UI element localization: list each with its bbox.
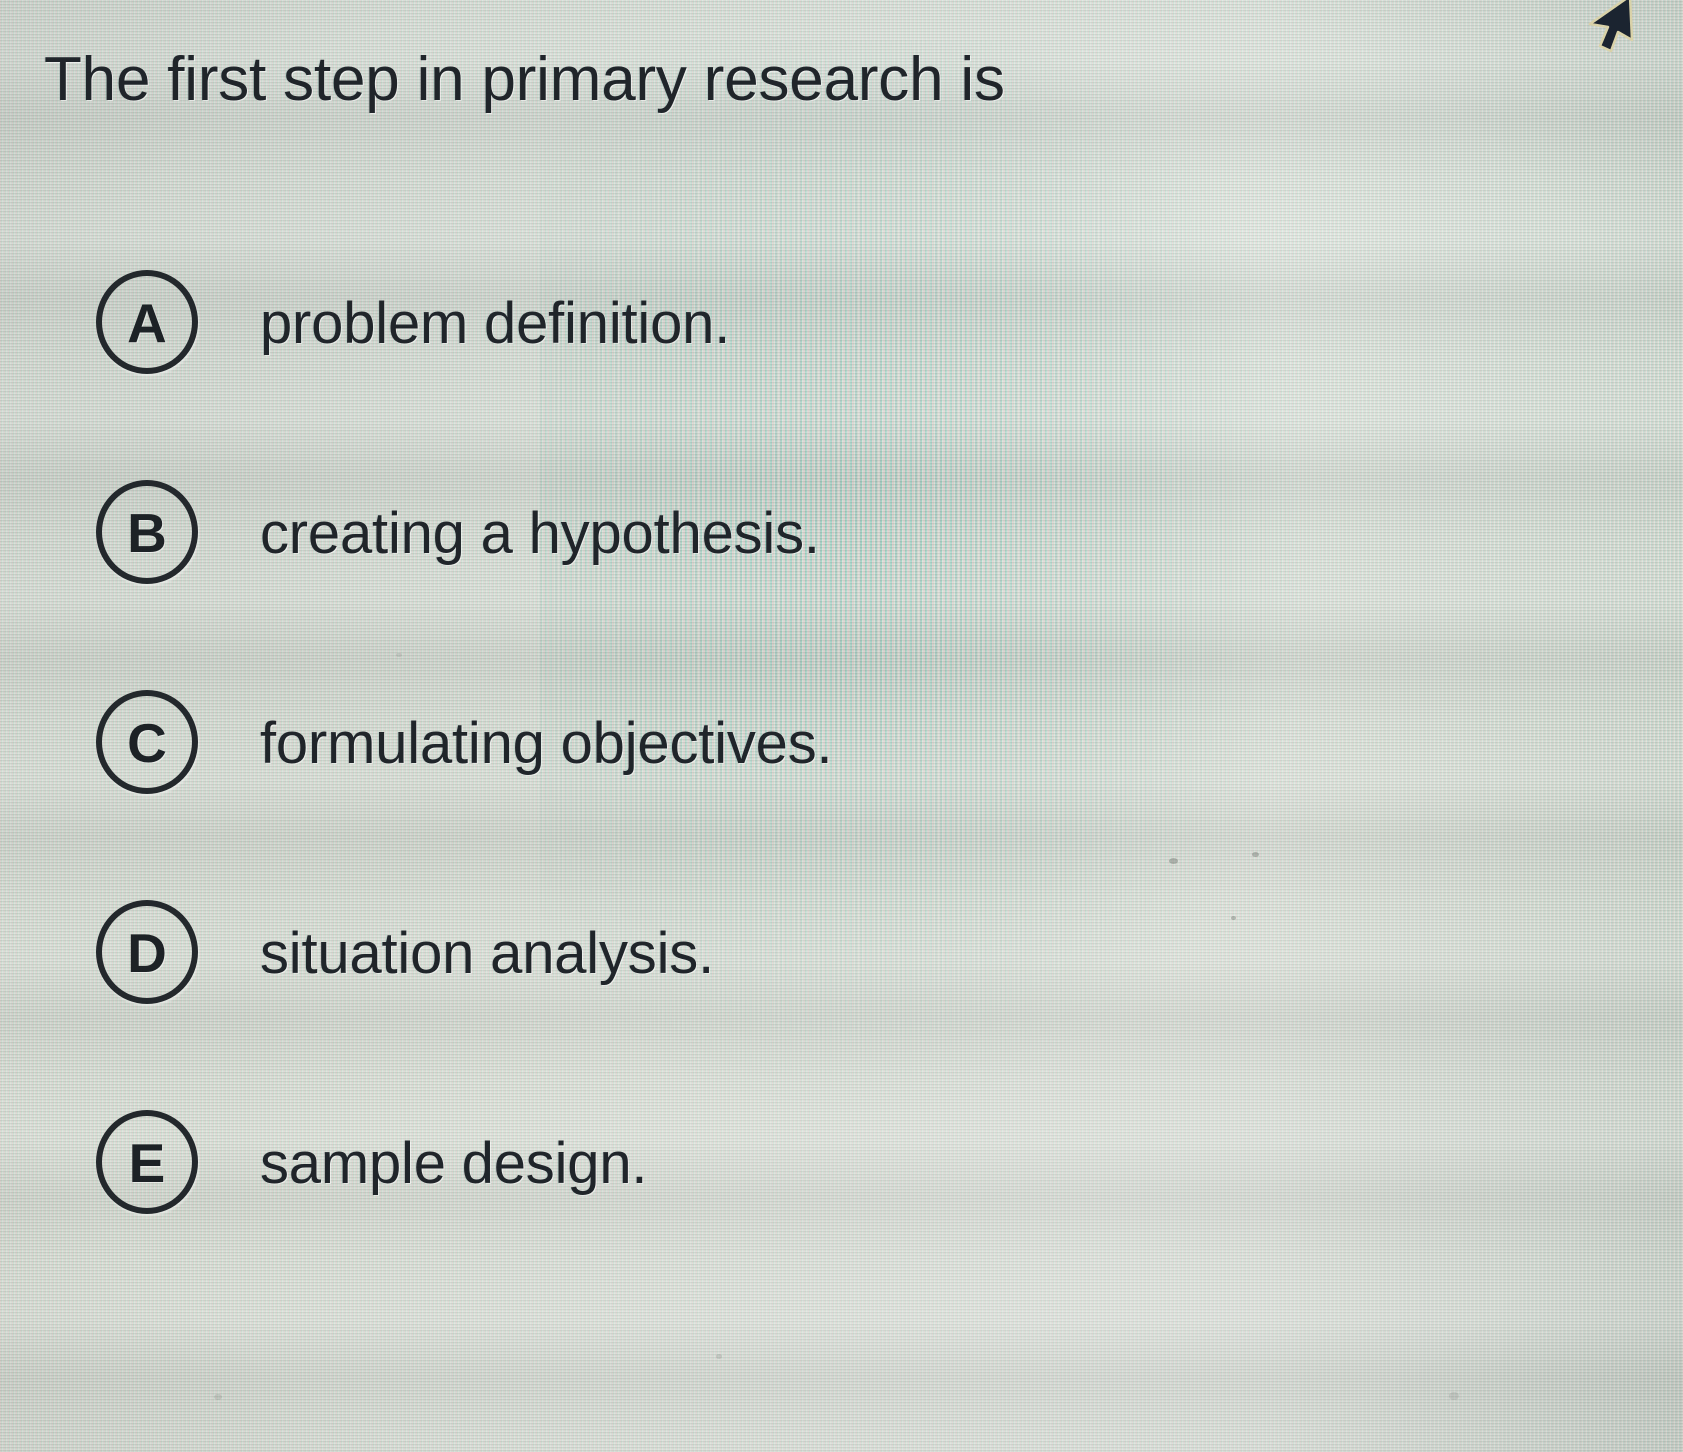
option-bubble-c[interactable]: C (96, 690, 198, 794)
quiz-content: The first step in primary research is A … (0, 0, 1683, 1452)
option-text-b: creating a hypothesis. (260, 502, 820, 566)
dust-speck (1169, 858, 1178, 864)
monitor-photo: The first step in primary research is A … (0, 0, 1683, 1452)
option-text-c: formulating objectives. (260, 712, 832, 776)
option-text-d: situation analysis. (260, 922, 714, 986)
option-letter-c: C (127, 716, 167, 771)
answer-option-a[interactable]: A problem definition. (0, 252, 1683, 462)
option-letter-b: B (127, 506, 167, 561)
answer-option-b[interactable]: B creating a hypothesis. (0, 462, 1683, 672)
option-bubble-e[interactable]: E (96, 1110, 198, 1214)
option-text-a: problem definition. (260, 292, 730, 356)
option-letter-d: D (127, 926, 167, 981)
question-title: The first step in primary research is (44, 44, 1344, 115)
answer-option-d[interactable]: D situation analysis. (0, 882, 1683, 1092)
dust-speck (716, 1354, 722, 1359)
option-text-e: sample design. (260, 1132, 647, 1196)
dust-speck (1449, 1392, 1459, 1400)
option-bubble-a[interactable]: A (96, 270, 198, 374)
dust-speck (1252, 852, 1259, 857)
dust-speck (214, 1394, 222, 1400)
option-bubble-b[interactable]: B (96, 480, 198, 584)
answer-option-c[interactable]: C formulating objectives. (0, 672, 1683, 882)
dust-speck (1231, 916, 1236, 920)
answer-options-list: A problem definition. B creating a hypot… (0, 252, 1683, 1302)
option-bubble-d[interactable]: D (96, 900, 198, 1004)
option-letter-a: A (127, 296, 167, 351)
answer-option-e[interactable]: E sample design. (0, 1092, 1683, 1302)
dust-speck (396, 653, 402, 657)
option-letter-e: E (129, 1136, 166, 1191)
